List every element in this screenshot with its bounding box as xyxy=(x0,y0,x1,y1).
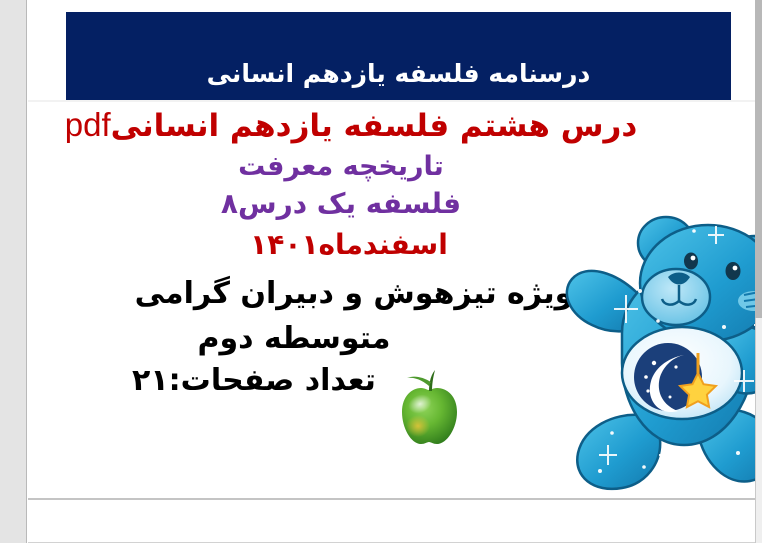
vertical-scrollbar[interactable] xyxy=(755,0,762,543)
banner-title-text: درسنامه فلسفه یازدهم انسانی xyxy=(207,61,591,102)
page-top-edge xyxy=(28,100,755,102)
lesson-title-fa: درس هشتم فلسفه یازدهم انسانی xyxy=(111,108,638,144)
title-banner: درسنامه فلسفه یازدهم انسانی xyxy=(66,12,731,102)
scrollbar-thumb[interactable] xyxy=(755,0,762,318)
history-subtitle-line: تاریخچه معرفت xyxy=(28,153,710,181)
left-gutter xyxy=(0,0,27,543)
lesson-title-line: درس هشتم فلسفه یازدهم انسانیpdf xyxy=(28,108,710,143)
green-apple-icon xyxy=(390,366,466,448)
pdf-viewer: درسنامه فلسفه یازدهم انسانی درس هشتم فلس… xyxy=(0,0,762,543)
slide-page-1: درسنامه فلسفه یازدهم انسانی درس هشتم فلس… xyxy=(28,0,755,500)
slide-page-2 xyxy=(28,502,755,543)
blue-care-bear-image xyxy=(548,205,755,500)
lesson-title-latin: pdf xyxy=(65,106,111,143)
